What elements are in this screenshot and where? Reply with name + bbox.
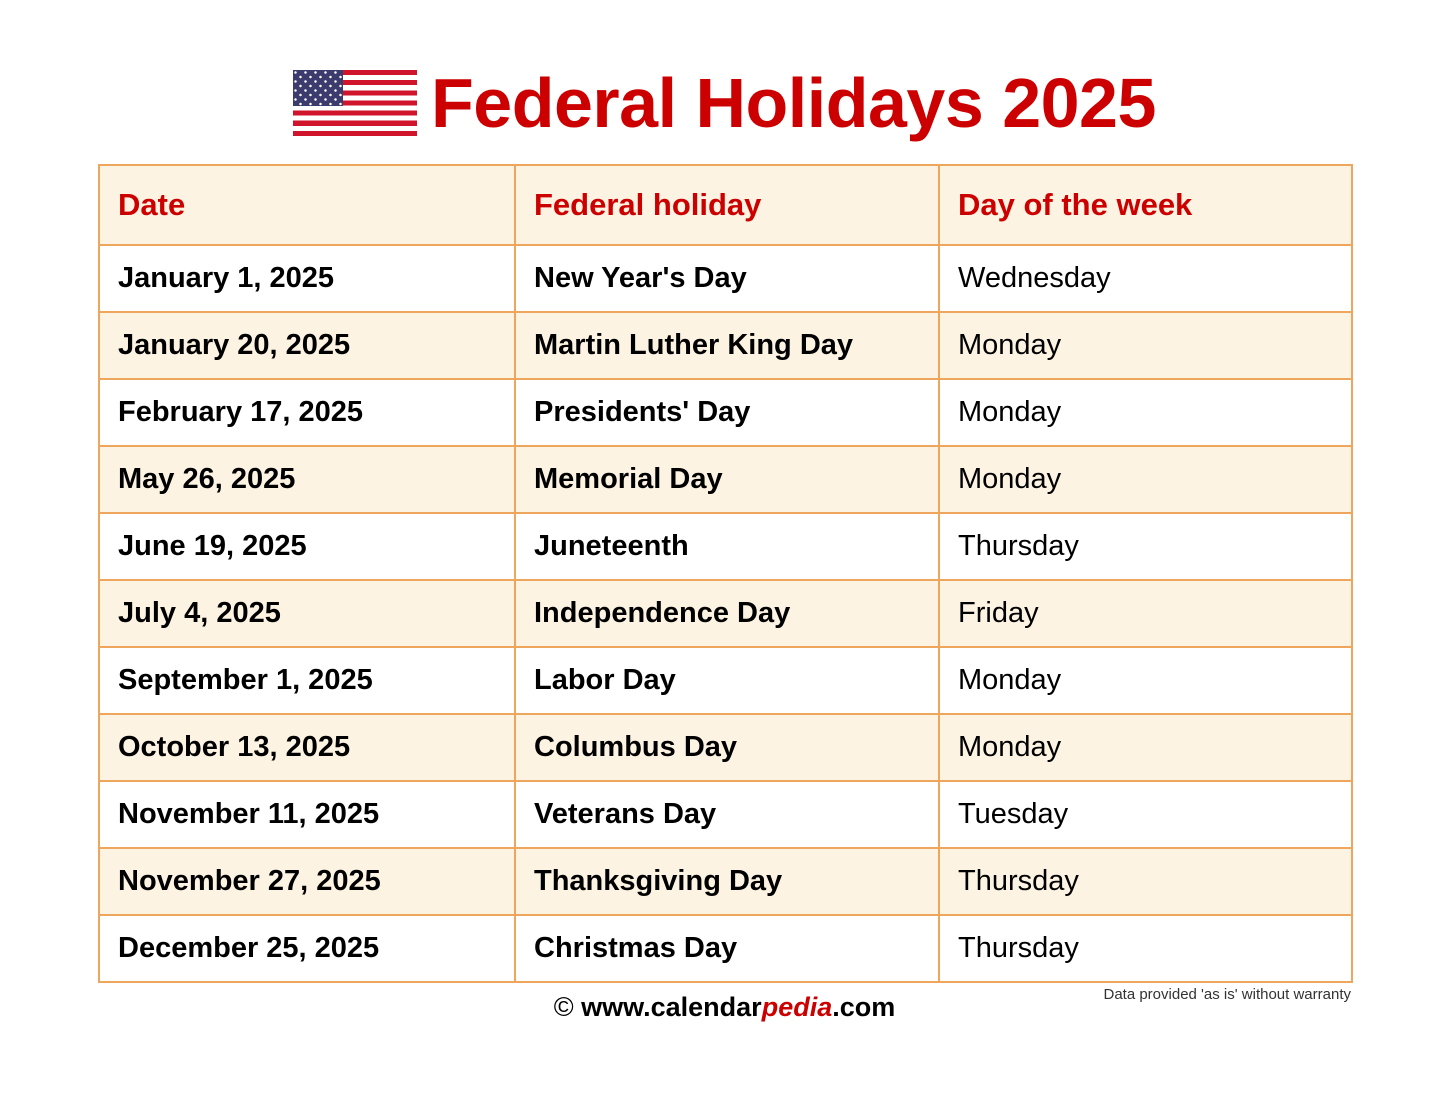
cell-holiday: Memorial Day bbox=[515, 446, 939, 513]
page-header: Federal Holidays 2025 bbox=[0, 58, 1449, 148]
table-row: September 1, 2025Labor DayMonday bbox=[99, 647, 1352, 714]
cell-day-of-week: Monday bbox=[939, 312, 1352, 379]
cell-holiday: Thanksgiving Day bbox=[515, 848, 939, 915]
cell-date: October 13, 2025 bbox=[99, 714, 515, 781]
cell-day-of-week: Monday bbox=[939, 714, 1352, 781]
cell-day-of-week: Monday bbox=[939, 647, 1352, 714]
cell-holiday: Independence Day bbox=[515, 580, 939, 647]
cell-date: November 27, 2025 bbox=[99, 848, 515, 915]
site-prefix: www.calendar bbox=[574, 992, 762, 1022]
column-header-day: Day of the week bbox=[939, 165, 1352, 245]
flag-canton bbox=[293, 70, 343, 106]
table-row: May 26, 2025Memorial DayMonday bbox=[99, 446, 1352, 513]
cell-day-of-week: Tuesday bbox=[939, 781, 1352, 848]
holiday-calendar-page: Federal Holidays 2025 Date Federal holid… bbox=[0, 0, 1449, 1099]
cell-holiday: Christmas Day bbox=[515, 915, 939, 982]
table-header-row: Date Federal holiday Day of the week bbox=[99, 165, 1352, 245]
cell-day-of-week: Thursday bbox=[939, 513, 1352, 580]
cell-day-of-week: Thursday bbox=[939, 915, 1352, 982]
table-row: November 27, 2025Thanksgiving DayThursda… bbox=[99, 848, 1352, 915]
cell-date: January 20, 2025 bbox=[99, 312, 515, 379]
cell-holiday: Martin Luther King Day bbox=[515, 312, 939, 379]
cell-day-of-week: Monday bbox=[939, 446, 1352, 513]
cell-date: July 4, 2025 bbox=[99, 580, 515, 647]
table-row: November 11, 2025Veterans DayTuesday bbox=[99, 781, 1352, 848]
table-row: February 17, 2025Presidents' DayMonday bbox=[99, 379, 1352, 446]
cell-holiday: New Year's Day bbox=[515, 245, 939, 312]
table-row: December 25, 2025Christmas DayThursday bbox=[99, 915, 1352, 982]
federal-holidays-table: Date Federal holiday Day of the week Jan… bbox=[98, 164, 1353, 983]
table-body: January 1, 2025New Year's DayWednesdayJa… bbox=[99, 245, 1352, 982]
cell-date: December 25, 2025 bbox=[99, 915, 515, 982]
flag-stars bbox=[293, 70, 343, 106]
cell-day-of-week: Thursday bbox=[939, 848, 1352, 915]
cell-date: June 19, 2025 bbox=[99, 513, 515, 580]
cell-date: September 1, 2025 bbox=[99, 647, 515, 714]
cell-date: November 11, 2025 bbox=[99, 781, 515, 848]
table-row: June 19, 2025JuneteenthThursday bbox=[99, 513, 1352, 580]
cell-date: May 26, 2025 bbox=[99, 446, 515, 513]
table-header: Date Federal holiday Day of the week bbox=[99, 165, 1352, 245]
page-title: Federal Holidays 2025 bbox=[431, 68, 1156, 138]
cell-holiday: Columbus Day bbox=[515, 714, 939, 781]
cell-holiday: Juneteenth bbox=[515, 513, 939, 580]
us-flag-icon bbox=[293, 70, 417, 136]
column-header-holiday: Federal holiday bbox=[515, 165, 939, 245]
cell-holiday: Labor Day bbox=[515, 647, 939, 714]
site-brand: pedia bbox=[762, 992, 833, 1022]
cell-day-of-week: Friday bbox=[939, 580, 1352, 647]
table-row: January 1, 2025New Year's DayWednesday bbox=[99, 245, 1352, 312]
cell-day-of-week: Monday bbox=[939, 379, 1352, 446]
table-row: January 20, 2025Martin Luther King DayMo… bbox=[99, 312, 1352, 379]
cell-holiday: Presidents' Day bbox=[515, 379, 939, 446]
copyright-symbol: © bbox=[554, 992, 574, 1022]
footer-disclaimer: Data provided 'as is' without warranty bbox=[1103, 986, 1351, 1003]
cell-date: February 17, 2025 bbox=[99, 379, 515, 446]
column-header-date: Date bbox=[99, 165, 515, 245]
table-row: October 13, 2025Columbus DayMonday bbox=[99, 714, 1352, 781]
site-suffix: .com bbox=[832, 992, 895, 1022]
cell-holiday: Veterans Day bbox=[515, 781, 939, 848]
table-row: July 4, 2025Independence DayFriday bbox=[99, 580, 1352, 647]
cell-day-of-week: Wednesday bbox=[939, 245, 1352, 312]
cell-date: January 1, 2025 bbox=[99, 245, 515, 312]
